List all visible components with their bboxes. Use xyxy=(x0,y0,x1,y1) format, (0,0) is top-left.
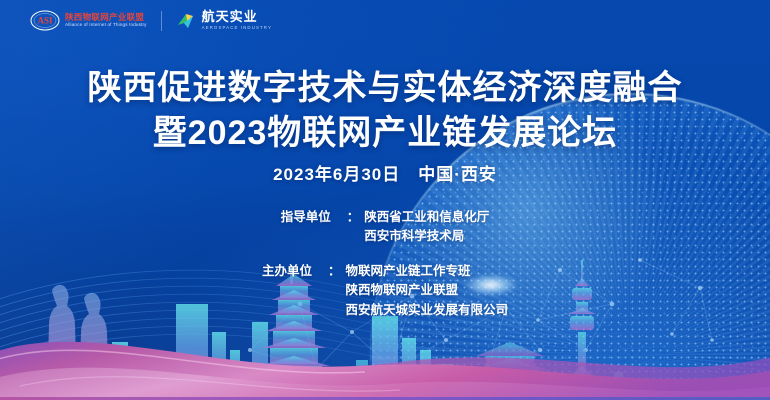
org-values-host: 物联网产业链工作专班 陕西物联网产业联盟 西安航天城实业发展有限公司 xyxy=(346,262,509,320)
org-value: 西安航天城实业发展有限公司 xyxy=(346,301,509,320)
poster-title: 陕西促进数字技术与实体经济深度融合 暨2023物联网产业链发展论坛 xyxy=(0,66,770,156)
logo-aerospace: 航天实业 AEROSPACE INDUSTRY xyxy=(176,10,272,30)
org-colon-host: ： xyxy=(328,262,341,281)
organization-list: 指导单位 ： 陕西省工业和信息化厅 西安市科学技术局 主办单位 ： 物联网产业链… xyxy=(0,208,770,320)
aerospace-swoosh-icon xyxy=(176,12,196,30)
org-value: 西安市科学技术局 xyxy=(364,227,489,246)
org-value: 物联网产业链工作专班 xyxy=(346,262,509,281)
title-line-1: 陕西促进数字技术与实体经济深度融合 xyxy=(0,66,770,111)
org-values-guidance: 陕西省工业和信息化厅 西安市科学技术局 xyxy=(364,208,489,247)
org-value: 陕西物联网产业联盟 xyxy=(346,281,509,300)
aerospace-logo-text: 航天实业 AEROSPACE INDUSTRY xyxy=(202,10,272,30)
aerospace-logo-en: AEROSPACE INDUSTRY xyxy=(202,26,272,30)
org-colon-guidance: ： xyxy=(347,208,360,227)
organization-group-guidance: 指导单位 ： 陕西省工业和信息化厅 西安市科学技术局 xyxy=(281,208,490,247)
header-logo-bar: ASI 陕西物联网产业联盟 Alliance of Internet of Th… xyxy=(30,10,272,31)
org-label-guidance: 指导单位 xyxy=(281,208,347,227)
asi-roundel-icon: ASI xyxy=(30,10,60,31)
org-label-host: 主办单位 xyxy=(262,262,328,281)
aerospace-logo-cn: 航天实业 xyxy=(202,10,272,23)
title-line-2: 暨2023物联网产业链发展论坛 xyxy=(0,111,770,156)
asi-logo-en: Alliance of Internet of Things Industry xyxy=(65,23,147,28)
organization-group-host: 主办单位 ： 物联网产业链工作专班 陕西物联网产业联盟 西安航天城实业发展有限公… xyxy=(262,262,508,320)
logo-divider xyxy=(161,11,162,31)
event-date-location: 2023年6月30日 中国·西安 xyxy=(0,160,770,185)
svg-text:ASI: ASI xyxy=(37,16,53,26)
asi-logo-cn: 陕西物联网产业联盟 xyxy=(65,13,147,22)
org-value: 陕西省工业和信息化厅 xyxy=(364,208,489,227)
poster-canvas: ASI 陕西物联网产业联盟 Alliance of Internet of Th… xyxy=(0,0,770,400)
asi-logo-text: 陕西物联网产业联盟 Alliance of Internet of Things… xyxy=(65,13,147,28)
logo-asi: ASI 陕西物联网产业联盟 Alliance of Internet of Th… xyxy=(30,10,147,31)
